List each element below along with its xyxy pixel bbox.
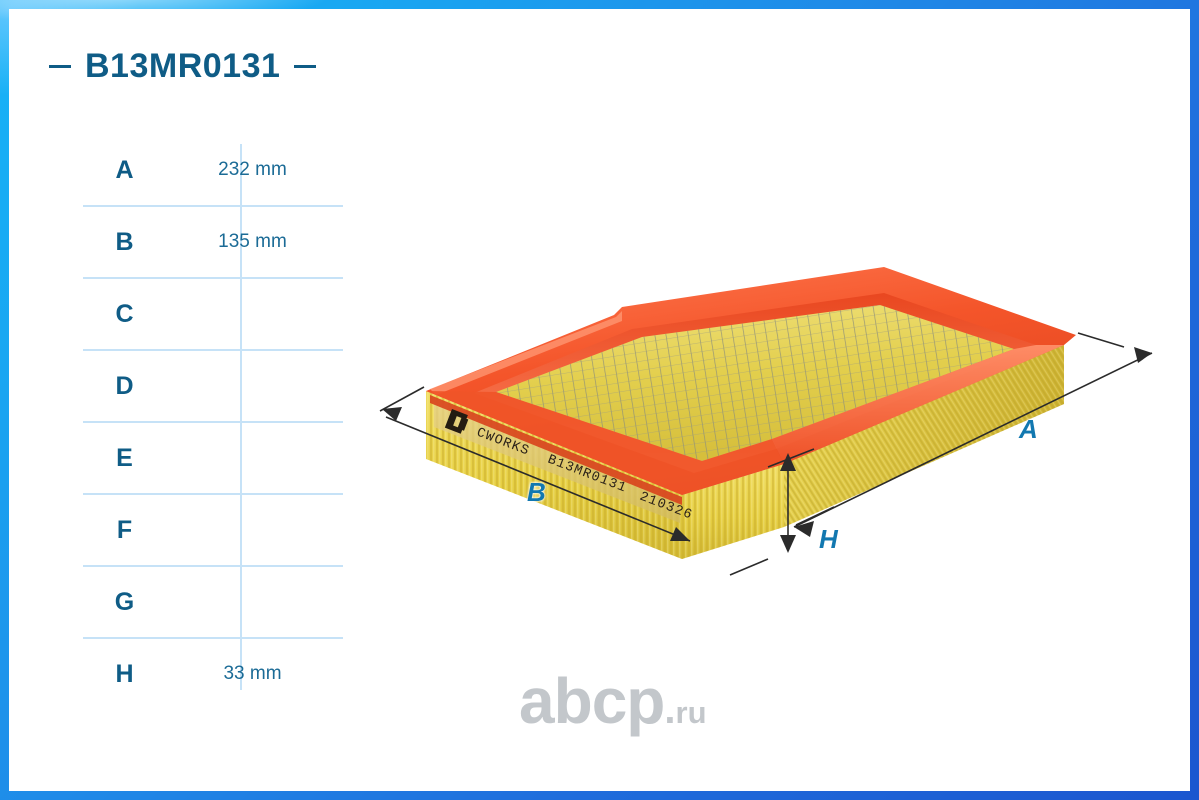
table-row: E <box>83 421 343 493</box>
dimension-key-g: G <box>83 588 166 617</box>
dimension-value-h: 33 mm <box>166 663 343 685</box>
watermark-dot: . <box>664 690 675 730</box>
table-row: G <box>83 565 343 637</box>
table-row: D <box>83 349 343 421</box>
dimension-table: A 232 mm B 135 mm C D E F <box>83 135 343 709</box>
product-card: B13MR0131 A 232 mm B 135 mm C D <box>9 9 1190 791</box>
part-number-title: B13MR0131 <box>85 47 280 86</box>
table-row: A 232 mm <box>83 135 343 205</box>
watermark-name: abcp <box>519 669 664 733</box>
dimension-key-b: B <box>83 228 166 257</box>
table-row: B 135 mm <box>83 205 343 277</box>
watermark-abcp-ru: abcp . ru <box>519 669 707 733</box>
table-row: H 33 mm <box>83 637 343 709</box>
callout-label-a: A <box>1019 414 1038 445</box>
dimension-key-d: D <box>83 372 166 401</box>
watermark-tld: ru <box>676 697 707 728</box>
callout-label-h: H <box>819 524 838 555</box>
dimension-key-c: C <box>83 300 166 329</box>
dimension-value-b: 135 mm <box>166 231 343 253</box>
page-title: B13MR0131 <box>49 47 316 86</box>
title-dash-right <box>294 65 316 68</box>
table-row: C <box>83 277 343 349</box>
product-image-air-filter: CWORKS B13MR0131 210326 <box>364 259 1164 639</box>
dimension-key-a: A <box>83 156 166 185</box>
dimension-key-f: F <box>83 516 166 545</box>
dimension-value-a: 232 mm <box>166 159 343 181</box>
callout-label-b: B <box>527 477 546 508</box>
image-frame: B13MR0131 A 232 mm B 135 mm C D <box>0 0 1199 800</box>
dimension-key-e: E <box>83 444 166 473</box>
dimension-key-h: H <box>83 660 166 689</box>
title-dash-left <box>49 65 71 68</box>
table-row: F <box>83 493 343 565</box>
